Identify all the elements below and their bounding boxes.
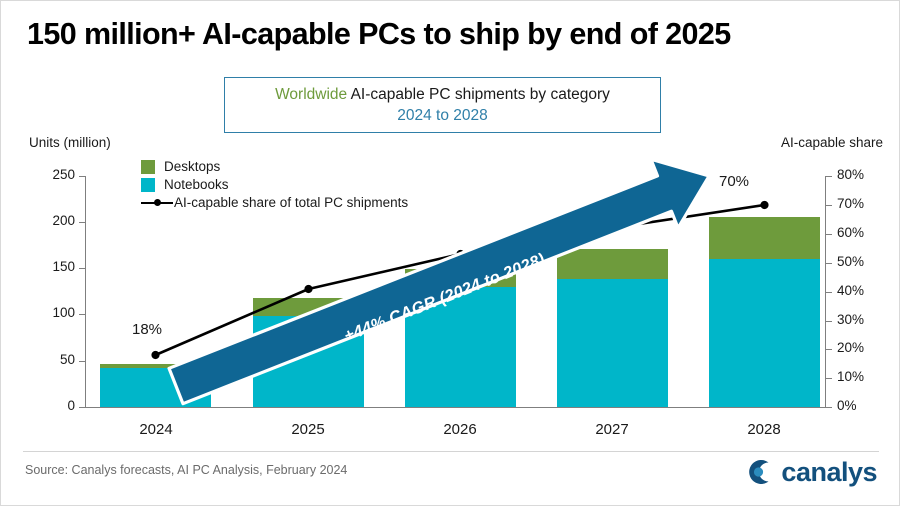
data-label-share-2024: 18% <box>132 321 162 338</box>
y2-tick-label-60: 60% <box>837 225 897 240</box>
legend-item-notebooks: Notebooks <box>141 176 408 193</box>
y-tick-label-250: 250 <box>29 167 75 182</box>
legend-line-marker-icon <box>141 196 173 210</box>
bar-desktops-2024 <box>100 364 211 368</box>
legend-label-share-line: AI-capable share of total PC shipments <box>174 195 408 210</box>
source-note: Source: Canalys forecasts, AI PC Analysi… <box>25 463 347 477</box>
canalys-logo: canalys <box>744 453 877 491</box>
canalys-wordmark: canalys <box>781 457 877 488</box>
data-label-share-2028: 70% <box>719 173 749 190</box>
chart-subtitle-box: Worldwide AI-capable PC shipments by cat… <box>224 77 661 133</box>
bar-notebooks-2026 <box>405 286 516 407</box>
subtitle-scope: Worldwide <box>275 86 347 103</box>
y-axis-left-line <box>85 176 86 408</box>
y-axis-title-right: AI-capable share <box>781 135 883 150</box>
legend-swatch-notebooks-icon <box>141 178 155 192</box>
y-tick-label-100: 100 <box>29 305 75 320</box>
canalys-mark-icon <box>744 455 778 489</box>
y2-tick-label-50: 50% <box>837 254 897 269</box>
bar-notebooks-2027 <box>557 278 668 407</box>
page-title: 150 million+ AI-capable PCs to ship by e… <box>27 17 877 52</box>
bar-notebooks-2025 <box>253 315 364 407</box>
x-tick-label-2025: 2025 <box>248 421 368 438</box>
slide-root: 150 million+ AI-capable PCs to ship by e… <box>0 0 900 506</box>
y-tick-label-150: 150 <box>29 259 75 274</box>
y-tick-label-50: 50 <box>29 352 75 367</box>
bar-desktops-2025 <box>253 298 364 316</box>
footer-divider <box>23 451 879 452</box>
y2-tick-label-80: 80% <box>837 167 897 182</box>
subtitle-main: AI-capable PC shipments by category <box>351 86 610 103</box>
cagr-arrow-label: +44% CAGR (2024 to 2028) <box>342 250 548 346</box>
bar-desktops-2028 <box>709 217 820 259</box>
x-tick-label-2028: 2028 <box>704 421 824 438</box>
y2-tick-label-70: 70% <box>837 196 897 211</box>
y2-tick-label-0: 0% <box>837 398 897 413</box>
subtitle-period: 2024 to 2028 <box>225 105 660 126</box>
legend-item-share-line: AI-capable share of total PC shipments <box>141 194 408 211</box>
legend-item-desktops: Desktops <box>141 158 408 175</box>
y2-tick-label-30: 30% <box>837 312 897 327</box>
chart-legend: Desktops Notebooks AI-capable share of t… <box>141 158 408 212</box>
bar-desktops-2027 <box>557 249 668 279</box>
x-tick-label-2026: 2026 <box>400 421 520 438</box>
y-tick-label-200: 200 <box>29 213 75 228</box>
x-axis-line <box>85 407 826 408</box>
x-tick-label-2024: 2024 <box>96 421 216 438</box>
legend-label-notebooks: Notebooks <box>164 177 229 192</box>
y2-tick-label-40: 40% <box>837 283 897 298</box>
bar-notebooks-2028 <box>709 258 820 407</box>
y-axis-title-left: Units (million) <box>29 135 111 150</box>
y-tick-label-0: 0 <box>29 398 75 413</box>
legend-swatch-desktops-icon <box>141 160 155 174</box>
y2-tick-label-20: 20% <box>837 340 897 355</box>
y2-tick-label-10: 10% <box>837 369 897 384</box>
legend-label-desktops: Desktops <box>164 159 220 174</box>
x-tick-label-2027: 2027 <box>552 421 672 438</box>
bar-notebooks-2024 <box>100 366 211 407</box>
bar-desktops-2026 <box>405 269 516 287</box>
y-axis-right-line <box>825 176 826 408</box>
subtitle-line-1: Worldwide AI-capable PC shipments by cat… <box>225 85 660 105</box>
